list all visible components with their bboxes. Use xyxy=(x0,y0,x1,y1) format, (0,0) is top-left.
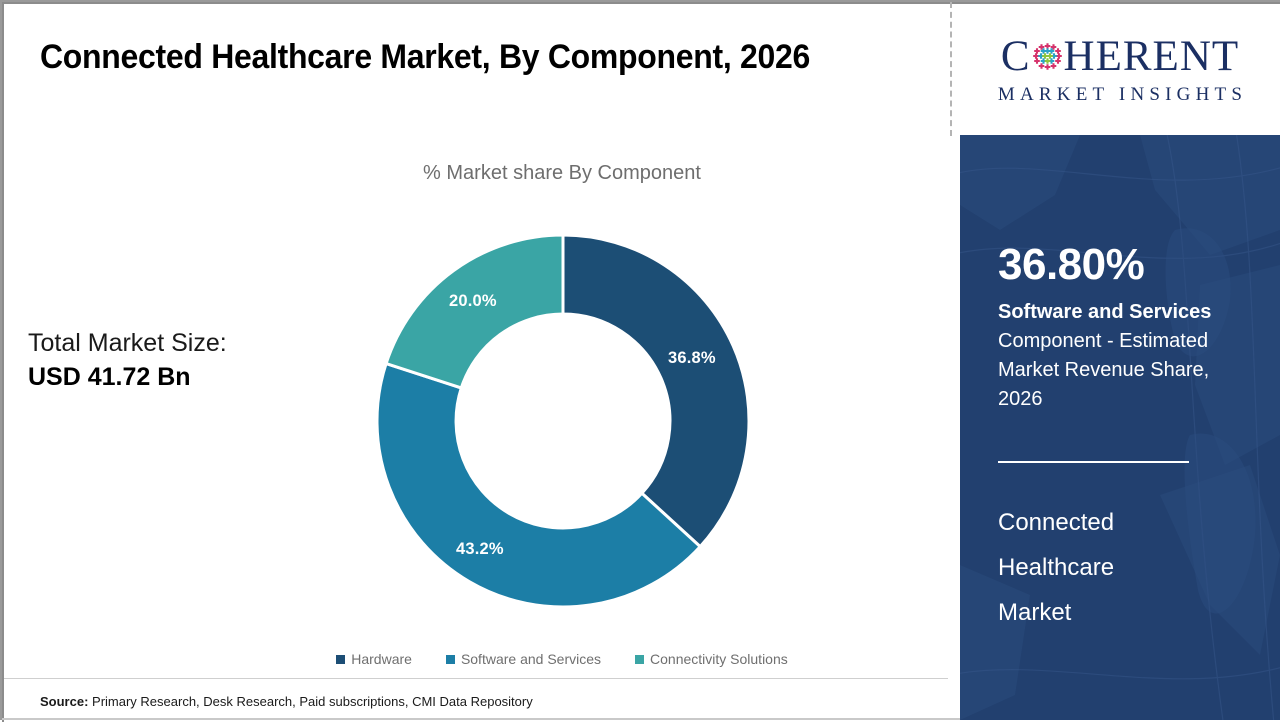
market-name-line-3: Market xyxy=(998,590,1228,635)
chart-subtitle: % Market share By Component xyxy=(262,162,862,185)
logo-wordmark: C xyxy=(1001,34,1239,80)
logo-wordmark-rest: HERENT xyxy=(1064,35,1240,79)
infographic-page: Connected Healthcare Market, By Componen… xyxy=(0,0,1280,720)
market-name-line-1: Connected xyxy=(998,500,1228,545)
header-dashed-divider xyxy=(950,2,952,136)
source-text: Primary Research, Desk Research, Paid su… xyxy=(88,694,532,709)
legend-item[interactable]: Hardware xyxy=(336,651,412,667)
market-name-block: Connected Healthcare Market xyxy=(998,500,1228,635)
legend-label: Hardware xyxy=(351,651,412,667)
donut-slice xyxy=(563,235,749,547)
highlight-description-line-3: 2026 xyxy=(998,385,1248,414)
highlight-description-line-2: Market Revenue Share, xyxy=(998,356,1248,385)
globe-icon xyxy=(1032,42,1063,73)
page-border-left xyxy=(2,2,4,722)
legend-label: Connectivity Solutions xyxy=(650,651,788,667)
source-label: Source: xyxy=(40,694,88,709)
donut-slice xyxy=(386,235,563,388)
highlight-panel: 36.80% Software and Services Component -… xyxy=(960,135,1280,720)
donut-label-connectivity-solutions: 20.0% xyxy=(449,292,497,311)
highlight-divider xyxy=(998,461,1189,463)
legend-item[interactable]: Software and Services xyxy=(446,651,601,667)
donut-label-software-and-services: 43.2% xyxy=(456,540,504,559)
highlight-stat: 36.80% Software and Services Component -… xyxy=(998,240,1248,414)
legend-label: Software and Services xyxy=(461,651,601,667)
market-name-line-2: Healthcare xyxy=(998,545,1228,590)
logo-subtitle: MARKET INSIGHTS xyxy=(993,84,1247,106)
legend-swatch-icon xyxy=(635,655,644,664)
source-note: Source: Primary Research, Desk Research,… xyxy=(40,694,533,709)
highlight-percentage: 36.80% xyxy=(998,240,1248,290)
brand-logo: C xyxy=(960,4,1280,135)
highlight-description-line-1: Component - Estimated xyxy=(998,327,1248,356)
total-market-size-label: Total Market Size: xyxy=(28,326,328,360)
legend-item[interactable]: Connectivity Solutions xyxy=(635,651,788,667)
highlight-segment-name: Software and Services xyxy=(998,298,1248,327)
donut-label-hardware: 36.8% xyxy=(668,349,716,368)
legend-swatch-icon xyxy=(336,655,345,664)
total-market-size-value: USD 41.72 Bn xyxy=(28,360,328,394)
page-title: Connected Healthcare Market, By Componen… xyxy=(40,32,839,82)
source-divider xyxy=(4,678,948,679)
donut-chart: 36.8% 43.2% 20.0% xyxy=(372,230,754,612)
total-market-size-block: Total Market Size: USD 41.72 Bn xyxy=(28,326,328,394)
logo-letter-c: C xyxy=(1001,35,1031,79)
legend-swatch-icon xyxy=(446,655,455,664)
donut-chart-svg xyxy=(372,230,754,612)
chart-legend: HardwareSoftware and ServicesConnectivit… xyxy=(202,651,922,667)
